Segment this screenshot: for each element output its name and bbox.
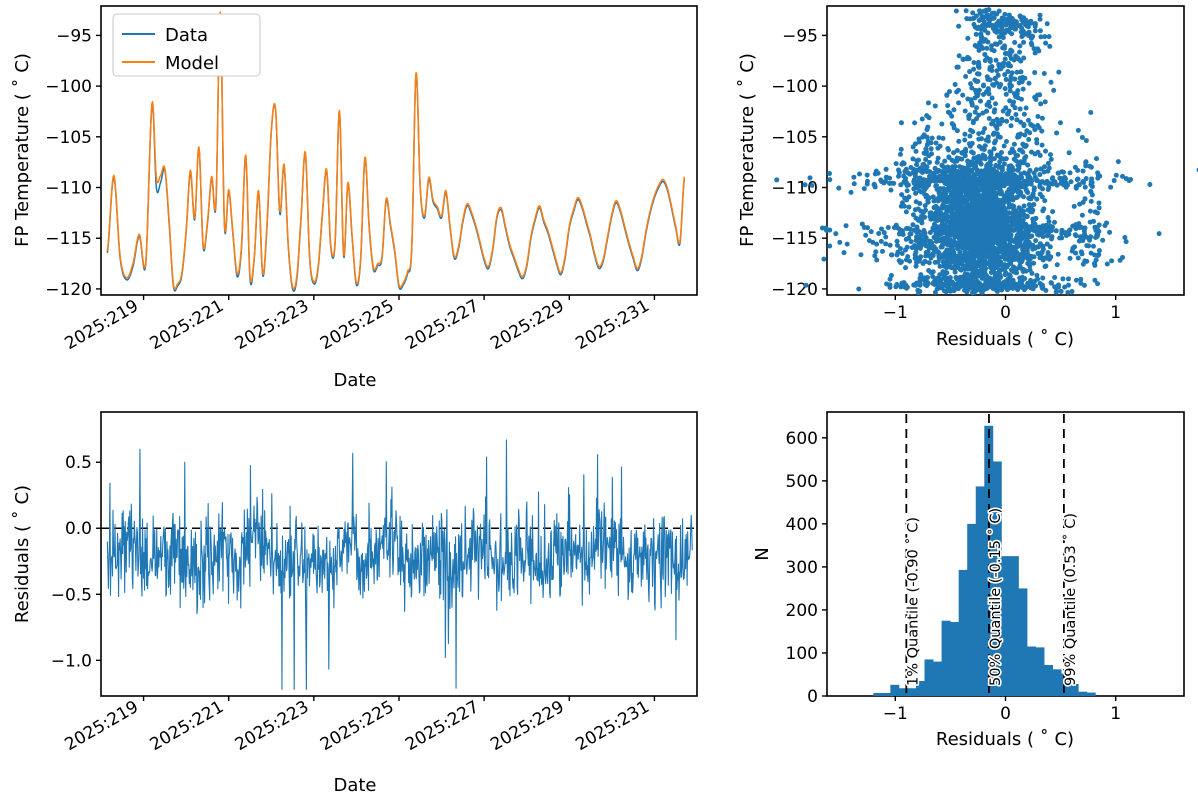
scatter-point bbox=[904, 209, 909, 214]
scatter-point bbox=[1018, 132, 1023, 137]
scatter-point bbox=[989, 229, 994, 234]
scatter-point bbox=[809, 183, 814, 188]
scatter-point bbox=[1052, 275, 1057, 280]
scatter-point bbox=[869, 229, 874, 234]
scatter-point bbox=[1002, 285, 1007, 290]
scatter-point bbox=[1045, 181, 1050, 186]
scatter-point bbox=[994, 58, 999, 63]
scatter-point bbox=[1024, 106, 1029, 111]
scatter-point bbox=[989, 221, 994, 226]
scatter-point bbox=[963, 74, 968, 79]
scatter-point bbox=[1060, 276, 1065, 281]
x-tick-label: 0 bbox=[1000, 303, 1011, 323]
scatter-point bbox=[1015, 163, 1020, 168]
scatter-point bbox=[992, 11, 997, 16]
scatter-point bbox=[986, 88, 991, 93]
y-axis-label: FP Temperature ( ˚ C) bbox=[12, 53, 33, 247]
scatter-point bbox=[1097, 222, 1102, 227]
scatter-point bbox=[908, 231, 913, 236]
scatter-point bbox=[1037, 172, 1042, 177]
scatter-point bbox=[916, 158, 921, 163]
scatter-point bbox=[1087, 238, 1092, 243]
scatter-point bbox=[988, 212, 993, 217]
scatter-point bbox=[876, 171, 881, 176]
scatter-point bbox=[974, 155, 979, 160]
scatter-point bbox=[774, 177, 779, 182]
scatter-point bbox=[947, 183, 952, 188]
scatter-point bbox=[1002, 238, 1007, 243]
scatter-point bbox=[1034, 197, 1039, 202]
scatter-point bbox=[916, 244, 921, 249]
scatter-point bbox=[1108, 185, 1113, 190]
scatter-point bbox=[959, 242, 964, 247]
y-tick-label: −120 bbox=[45, 280, 92, 300]
scatter-point bbox=[962, 138, 967, 143]
scatter-point bbox=[964, 8, 969, 13]
scatter-point bbox=[978, 99, 983, 104]
scatter-point bbox=[945, 146, 950, 151]
scatter-point bbox=[1045, 233, 1050, 238]
scatter-point bbox=[926, 200, 931, 205]
scatter-point bbox=[1002, 280, 1007, 285]
x-axis-label: Residuals ( ˚ C) bbox=[936, 729, 1074, 750]
scatter-point bbox=[949, 239, 954, 244]
scatter-point bbox=[1038, 184, 1043, 189]
scatter-point bbox=[963, 109, 968, 114]
x-axis-label: Residuals ( ˚ C) bbox=[936, 329, 1074, 350]
scatter-point bbox=[993, 138, 998, 143]
scatter-point bbox=[956, 100, 961, 105]
scatter-point bbox=[1078, 277, 1083, 282]
scatter-point bbox=[967, 69, 972, 74]
scatter-point bbox=[1011, 264, 1016, 269]
scatter-point bbox=[994, 23, 999, 28]
scatter-point bbox=[911, 212, 916, 217]
scatter-point bbox=[894, 161, 899, 166]
x-tick-label: −1 bbox=[883, 704, 908, 724]
scatter-point bbox=[977, 202, 982, 207]
scatter-point bbox=[987, 23, 992, 28]
scatter-point bbox=[1023, 154, 1028, 159]
histogram-bar bbox=[1018, 588, 1027, 696]
scatter-point bbox=[981, 83, 986, 88]
scatter-point bbox=[984, 218, 989, 223]
scatter-point bbox=[995, 241, 1000, 246]
x-tick-label: 2025:227 bbox=[402, 296, 483, 354]
y-tick-label: −100 bbox=[45, 77, 92, 97]
scatter-point bbox=[980, 230, 985, 235]
scatter-point bbox=[883, 241, 888, 246]
scatter-point bbox=[993, 41, 998, 46]
histogram-bar bbox=[1044, 665, 1053, 696]
scatter-point bbox=[969, 101, 974, 106]
scatter-point bbox=[821, 257, 826, 262]
x-tick-label: 2025:227 bbox=[402, 697, 483, 755]
scatter-point bbox=[970, 213, 975, 218]
scatter-point bbox=[978, 32, 983, 37]
scatter-point bbox=[944, 289, 949, 294]
scatter-point bbox=[1050, 175, 1055, 180]
scatter-point bbox=[1056, 282, 1061, 287]
scatter-point bbox=[1033, 216, 1038, 221]
scatter-point bbox=[889, 273, 894, 278]
scatter-point bbox=[901, 160, 906, 165]
scatter-point bbox=[804, 283, 809, 288]
scatter-point bbox=[1045, 21, 1050, 26]
scatter-point bbox=[1014, 182, 1019, 187]
scatter-point bbox=[983, 168, 988, 173]
scatter-point bbox=[914, 149, 919, 154]
scatter-point bbox=[978, 194, 983, 199]
scatter-point bbox=[1027, 241, 1032, 246]
scatter-point bbox=[971, 179, 976, 184]
scatter-point bbox=[1035, 178, 1040, 183]
scatter-point bbox=[883, 234, 888, 239]
scatter-point bbox=[1043, 288, 1048, 293]
scatter-point bbox=[1092, 261, 1097, 266]
scatter-point bbox=[1002, 72, 1007, 77]
scatter-point bbox=[1024, 235, 1029, 240]
scatter-point bbox=[1077, 202, 1082, 207]
scatter-point bbox=[899, 120, 904, 125]
scatter-point bbox=[993, 182, 998, 187]
scatter-point bbox=[914, 230, 919, 235]
scatter-point bbox=[1087, 164, 1092, 169]
scatter-point bbox=[972, 268, 977, 273]
scatter-point bbox=[993, 223, 998, 228]
scatter-point bbox=[1016, 190, 1021, 195]
scatter-point bbox=[1043, 149, 1048, 154]
scatter-point bbox=[926, 139, 931, 144]
scatter-point bbox=[1077, 182, 1082, 187]
scatter-point bbox=[1008, 178, 1013, 183]
scatter-point bbox=[1088, 110, 1093, 115]
scatter-point bbox=[1003, 105, 1008, 110]
scatter-point bbox=[1081, 262, 1086, 267]
scatter-point bbox=[924, 236, 929, 241]
scatter-point bbox=[1047, 34, 1052, 39]
scatter-point bbox=[969, 150, 974, 155]
scatter-point bbox=[996, 134, 1001, 139]
scatter-point bbox=[1068, 179, 1073, 184]
scatter-point bbox=[910, 245, 915, 250]
scatter-point bbox=[959, 168, 964, 173]
y-tick-label: −105 bbox=[45, 128, 92, 148]
figure-svg: −95−100−105−110−115−1202025:2192025:2212… bbox=[0, 0, 1198, 812]
scatter-point bbox=[865, 173, 870, 178]
y-tick-label: 100 bbox=[786, 644, 818, 664]
scatter-point bbox=[1109, 258, 1114, 263]
scatter-point bbox=[1075, 177, 1080, 182]
scatter-point bbox=[1040, 276, 1045, 281]
scatter-point bbox=[983, 156, 988, 161]
legend-label-data: Data bbox=[165, 25, 208, 46]
y-tick-label: 0 bbox=[807, 687, 818, 707]
scatter-point bbox=[987, 116, 992, 121]
scatter-point bbox=[1097, 200, 1102, 205]
scatter-point bbox=[1018, 76, 1023, 81]
scatter-point bbox=[970, 10, 975, 15]
scatter-point bbox=[879, 239, 884, 244]
scatter-point bbox=[1005, 248, 1010, 253]
scatter-point bbox=[1083, 160, 1088, 165]
scatter-point bbox=[931, 269, 936, 274]
scatter-point bbox=[1004, 92, 1009, 97]
scatter-point bbox=[1022, 76, 1027, 81]
scatter-point bbox=[918, 281, 923, 286]
scatter-point bbox=[1073, 251, 1078, 256]
scatter-point bbox=[849, 190, 854, 195]
y-tick-label: −95 bbox=[56, 26, 92, 46]
scatter-point bbox=[1013, 112, 1018, 117]
scatter-point bbox=[1080, 135, 1085, 140]
scatter-point bbox=[1089, 251, 1094, 256]
scatter-point bbox=[1105, 261, 1110, 266]
scatter-point bbox=[965, 179, 970, 184]
scatter-point bbox=[928, 230, 933, 235]
scatter-point bbox=[1065, 290, 1070, 295]
scatter-point bbox=[983, 58, 988, 63]
y-tick-label: 0.5 bbox=[65, 453, 92, 473]
scatter-point bbox=[1036, 150, 1041, 155]
scatter-point bbox=[942, 253, 947, 258]
scatter-point bbox=[1009, 123, 1014, 128]
scatter-point bbox=[984, 182, 989, 187]
histogram-bar bbox=[959, 570, 968, 696]
scatter-point bbox=[927, 169, 932, 174]
scatter-point bbox=[1054, 130, 1059, 135]
histogram-bar bbox=[907, 688, 916, 696]
scatter-point bbox=[1023, 226, 1028, 231]
scatter-point bbox=[951, 107, 956, 112]
scatter-point bbox=[965, 159, 970, 164]
scatter-point bbox=[964, 56, 969, 61]
scatter-point bbox=[1012, 58, 1017, 63]
scatter-point bbox=[988, 242, 993, 247]
scatter-point bbox=[1008, 256, 1013, 261]
scatter-point bbox=[977, 8, 982, 13]
scatter-point bbox=[1094, 156, 1099, 161]
scatter-point bbox=[1034, 167, 1039, 172]
scatter-point bbox=[993, 163, 998, 168]
scatter-point bbox=[956, 65, 961, 70]
scatter-point bbox=[939, 186, 944, 191]
scatter-point bbox=[1116, 159, 1121, 164]
scatter-point bbox=[970, 207, 975, 212]
scatter-point bbox=[917, 188, 922, 193]
scatter-point bbox=[898, 152, 903, 157]
scatter-point bbox=[1118, 258, 1123, 263]
scatter-point bbox=[1025, 261, 1030, 266]
scatter-point bbox=[904, 167, 909, 172]
scatter-point bbox=[984, 138, 989, 143]
y-tick-label: −110 bbox=[45, 179, 92, 199]
scatter-point bbox=[929, 146, 934, 151]
scatter-point bbox=[975, 171, 980, 176]
scatter-point bbox=[1029, 36, 1034, 41]
scatter-point bbox=[948, 204, 953, 209]
scatter-point bbox=[983, 223, 988, 228]
scatter-point bbox=[1029, 42, 1034, 47]
scatter-point bbox=[1051, 88, 1056, 93]
scatter-point bbox=[1016, 95, 1021, 100]
scatter-point bbox=[984, 278, 989, 283]
scatter-point bbox=[942, 159, 947, 164]
scatter-point bbox=[1095, 211, 1100, 216]
scatter-point bbox=[1090, 192, 1095, 197]
scatter-point bbox=[1047, 44, 1052, 49]
scatter-point bbox=[976, 113, 981, 118]
scatter-point bbox=[947, 89, 952, 94]
scatter-point bbox=[940, 192, 945, 197]
x-tick-label: 2025:225 bbox=[317, 697, 398, 755]
scatter-point bbox=[1056, 252, 1061, 257]
scatter-point bbox=[1021, 160, 1026, 165]
scatter-point bbox=[852, 181, 857, 186]
scatter-point bbox=[973, 43, 978, 48]
scatter-point bbox=[975, 79, 980, 84]
scatter-point bbox=[969, 232, 974, 237]
scatter-point bbox=[935, 146, 940, 151]
scatter-point bbox=[1010, 165, 1015, 170]
scatter-point bbox=[979, 162, 984, 167]
x-tick-label: 2025:229 bbox=[487, 296, 568, 354]
histogram-bar bbox=[933, 662, 942, 696]
scatter-point bbox=[1019, 212, 1024, 217]
scatter-point bbox=[1032, 70, 1037, 75]
scatter-point bbox=[957, 232, 962, 237]
scatter-point bbox=[1040, 208, 1045, 213]
scatter-point bbox=[983, 143, 988, 148]
scatter-point bbox=[912, 168, 917, 173]
scatter-point bbox=[967, 134, 972, 139]
scatter-point bbox=[1011, 189, 1016, 194]
y-tick-label: −115 bbox=[771, 229, 818, 249]
scatter-point bbox=[1017, 253, 1022, 258]
scatter-point bbox=[972, 16, 977, 21]
scatter-point bbox=[1091, 244, 1096, 249]
scatter-point bbox=[970, 227, 975, 232]
scatter-point bbox=[935, 217, 940, 222]
scatter-point bbox=[953, 206, 958, 211]
scatter-point bbox=[1001, 207, 1006, 212]
scatter-point bbox=[965, 286, 970, 291]
scatter-point bbox=[1072, 244, 1077, 249]
scatter-point bbox=[935, 160, 940, 165]
scatter-point bbox=[1097, 205, 1102, 210]
scatter-point bbox=[985, 102, 990, 107]
scatter-point bbox=[939, 163, 944, 168]
scatter-point bbox=[977, 88, 982, 93]
scatter-point bbox=[1068, 256, 1073, 261]
scatter-point bbox=[836, 186, 841, 191]
histogram-bar bbox=[1078, 692, 1087, 696]
scatter-point bbox=[969, 220, 974, 225]
scatter-point bbox=[939, 122, 944, 127]
scatter-point bbox=[907, 259, 912, 264]
scatter-point bbox=[1015, 286, 1020, 291]
scatter-point bbox=[941, 259, 946, 264]
scatter-point bbox=[1035, 277, 1040, 282]
scatter-point bbox=[985, 30, 990, 35]
scatter-point bbox=[1038, 101, 1043, 106]
scatter-point bbox=[1026, 137, 1031, 142]
scatter-point bbox=[1038, 28, 1043, 33]
scatter-point bbox=[924, 164, 929, 169]
scatter-point bbox=[1112, 178, 1117, 183]
scatter-point bbox=[1011, 245, 1016, 250]
scatter-point bbox=[971, 22, 976, 27]
scatter-point bbox=[898, 246, 903, 251]
scatter-point bbox=[884, 167, 889, 172]
scatter-point bbox=[903, 265, 908, 270]
scatter-point bbox=[1001, 17, 1006, 22]
scatter-point bbox=[946, 260, 951, 265]
scatter-point bbox=[934, 183, 939, 188]
scatter-point bbox=[1035, 114, 1040, 119]
scatter-point bbox=[970, 141, 975, 146]
scatter-point bbox=[1082, 232, 1087, 237]
scatter-point bbox=[929, 210, 934, 215]
scatter-point bbox=[984, 273, 989, 278]
scatter-point bbox=[1084, 243, 1089, 248]
scatter-point bbox=[899, 147, 904, 152]
scatter-point bbox=[905, 254, 910, 259]
scatter-point bbox=[984, 172, 989, 177]
scatter-point bbox=[1059, 289, 1064, 294]
scatter-point bbox=[1090, 184, 1095, 189]
scatter-point bbox=[1015, 91, 1020, 96]
scatter-point bbox=[1094, 232, 1099, 237]
scatter-point bbox=[1003, 86, 1008, 91]
scatter-point bbox=[895, 239, 900, 244]
scatter-point bbox=[1076, 255, 1081, 260]
x-axis-label: Date bbox=[333, 775, 376, 796]
scatter-point bbox=[981, 92, 986, 97]
y-axis-label: Residuals ( ˚ C) bbox=[12, 485, 33, 623]
histogram-bar bbox=[890, 685, 899, 696]
scatter-point bbox=[1069, 289, 1074, 294]
scatter-point bbox=[1029, 178, 1034, 183]
scatter-point bbox=[948, 288, 953, 293]
scatter-point bbox=[1033, 50, 1038, 55]
scatter-point bbox=[1058, 120, 1063, 125]
scatter-point bbox=[1022, 133, 1027, 138]
scatter-point bbox=[1104, 220, 1109, 225]
scatter-point bbox=[925, 178, 930, 183]
scatter-point bbox=[933, 290, 938, 295]
scatter-point bbox=[865, 225, 870, 230]
scatter-point bbox=[949, 209, 954, 214]
scatter-point bbox=[987, 255, 992, 260]
scatter-point bbox=[1124, 239, 1129, 244]
scatter-point bbox=[1008, 26, 1013, 31]
histogram-bar bbox=[942, 621, 951, 696]
scatter-point bbox=[842, 250, 847, 255]
scatter-point bbox=[979, 44, 984, 49]
scatter-point bbox=[1114, 173, 1119, 178]
scatter-point bbox=[932, 198, 937, 203]
x-tick-label: 2025:221 bbox=[147, 697, 228, 755]
scatter-point bbox=[1013, 212, 1018, 217]
scatter-point bbox=[978, 25, 983, 30]
scatter-point bbox=[1046, 161, 1051, 166]
scatter-point bbox=[856, 286, 861, 291]
scatter-point bbox=[956, 139, 961, 144]
scatter-point bbox=[985, 74, 990, 79]
scatter-point bbox=[923, 157, 928, 162]
histogram-bar bbox=[1087, 693, 1096, 696]
